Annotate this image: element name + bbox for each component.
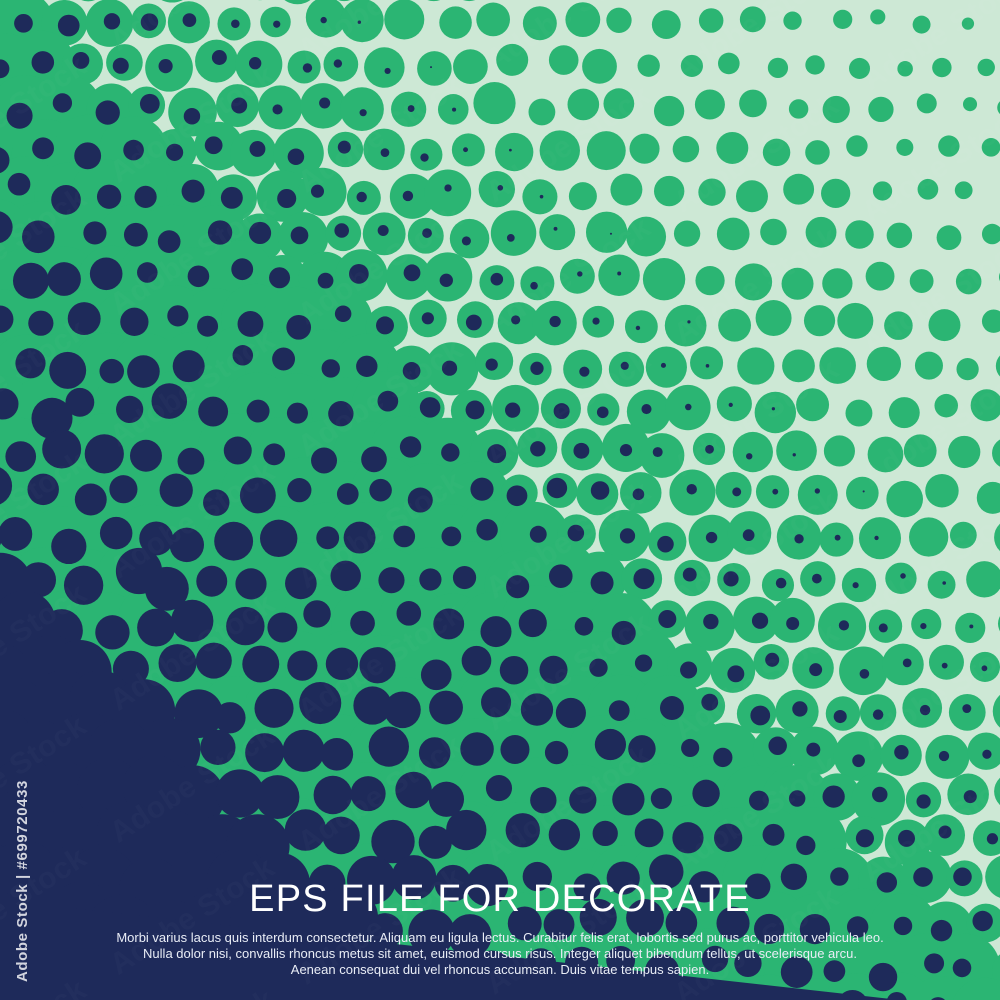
body-line: Morbi varius lacus quis interdum consect… bbox=[40, 930, 960, 946]
body-line: Aenean consequat dui vel rhoncus accumsa… bbox=[40, 962, 960, 978]
body-line: Nulla dolor nisi, convallis rhoncus metu… bbox=[40, 946, 960, 962]
artwork-canvas: Adobe Stock Adobe Stock Adobe Stock Adob… bbox=[0, 0, 1000, 1000]
caption-block: EPS FILE FOR DECORATE Morbi varius lacus… bbox=[0, 880, 1000, 978]
page-title: EPS FILE FOR DECORATE bbox=[0, 880, 1000, 918]
body-paragraph: Morbi varius lacus quis interdum consect… bbox=[0, 930, 1000, 978]
halftone-pattern bbox=[0, 0, 1000, 1000]
